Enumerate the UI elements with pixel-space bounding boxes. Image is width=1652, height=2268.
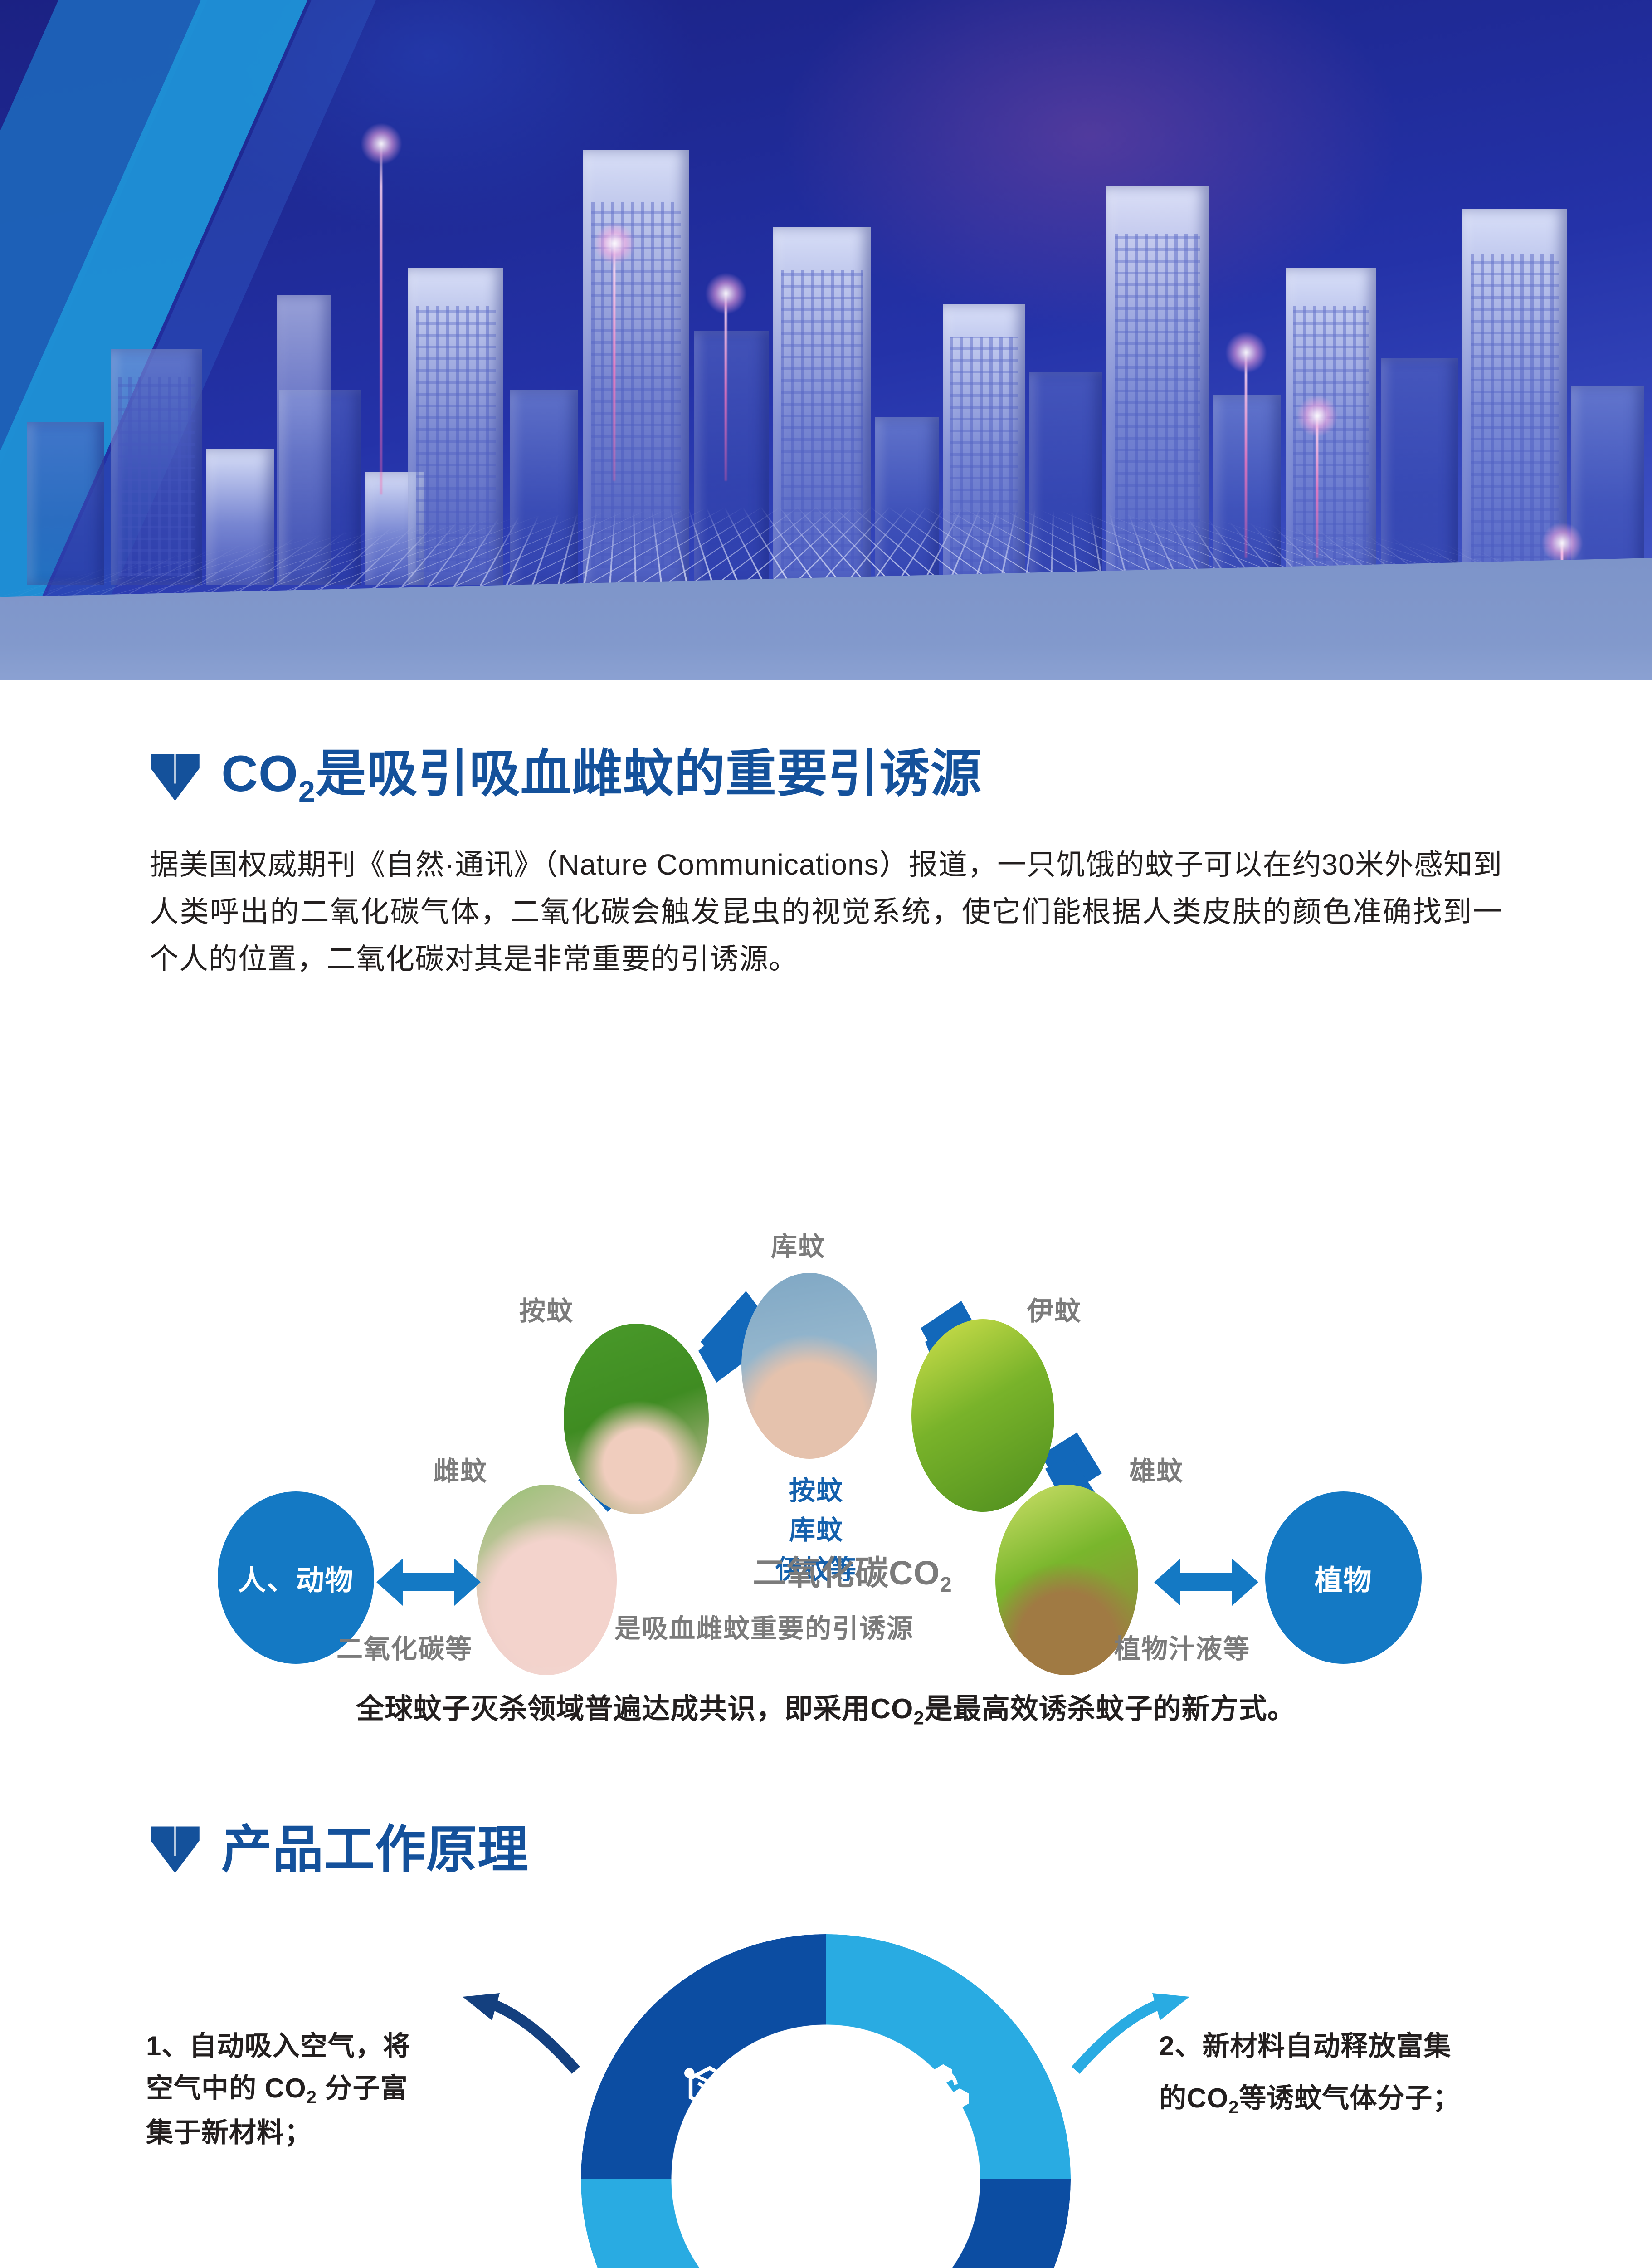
- title-co2-subscript: 2: [298, 774, 316, 808]
- consensus-subscript: 2: [913, 1707, 924, 1729]
- photo-culex: [741, 1273, 877, 1459]
- co2-label-text: 二氧化碳CO: [753, 1554, 940, 1592]
- section-heading-principle: 产品工作原理: [150, 1824, 1652, 1875]
- step-2-line-2b: 等诱蚊气体分子；: [1239, 2083, 1460, 2113]
- section-title-principle: 产品工作原理: [221, 1824, 529, 1875]
- consensus-text-a: 全球蚊子灭杀领域普遍达成共识，即采用CO: [356, 1693, 913, 1725]
- label-male: 雄蚊: [1129, 1450, 1184, 1488]
- step-1-line-2: 空气中的 CO2 分子富: [146, 2067, 463, 2112]
- co2-caption: 是吸血雌蚊重要的引诱源: [614, 1607, 914, 1645]
- photo-aedes: [911, 1319, 1054, 1512]
- step-1-line-2b: 分子富: [317, 2073, 408, 2103]
- center-line-anopheles: 按蚊: [744, 1471, 889, 1510]
- step-1-line-2a: 空气中的 CO: [146, 2073, 307, 2103]
- step-1-subscript: 2: [307, 2087, 317, 2107]
- chevron-down-icon: [150, 1825, 200, 1874]
- step-2-line-2: 的CO2等诱蚊气体分子；: [1159, 2077, 1522, 2121]
- center-line-culex: 库蚊: [744, 1510, 889, 1550]
- step-1-line-1: 1、自动吸入空气，将: [146, 2025, 463, 2067]
- section-heading-co2: CO2是吸引吸血雌蚊的重要引诱源: [150, 748, 1652, 806]
- co2-label-subscript: 2: [940, 1573, 952, 1596]
- step-1-line-3: 集于新材料；: [146, 2112, 463, 2154]
- step-2-line-1: 2、新材料自动释放富集: [1159, 2025, 1522, 2067]
- intro-paragraph: 据美国权威期刊《自然·通讯》（Nature Communications）报道，…: [150, 841, 1502, 982]
- step-2-line-2a: 的CO: [1159, 2083, 1228, 2113]
- label-anopheles: 按蚊: [519, 1290, 574, 1328]
- step-1-text: 1、自动吸入空气，将 空气中的 CO2 分子富 集于新材料；: [146, 2025, 463, 2154]
- label-female: 雌蚊: [433, 1450, 487, 1488]
- title-co2-prefix: CO: [221, 745, 298, 802]
- photo-anopheles: [564, 1324, 709, 1514]
- consensus-statement: 全球蚊子灭杀领域普遍达成共识，即采用CO2是最高效诱杀蚊子的新方式。: [0, 1686, 1652, 1729]
- mosquito-attraction-diagram: 按蚊 库蚊 伊蚊 雌蚊 雄蚊 人、动物 植物 二氧化碳等 植物汁液等 按蚊 库蚊…: [0, 1011, 1652, 1546]
- label-culex: 库蚊: [771, 1225, 825, 1263]
- working-principle-cycle: 1、自动吸入空气，将 空气中的 CO2 分子富 集于新材料； 2、新材料自动释放…: [0, 1916, 1652, 2268]
- chevron-down-icon: [150, 753, 200, 802]
- hero-banner: [0, 0, 1652, 680]
- step-2-subscript: 2: [1228, 2097, 1239, 2117]
- label-aedes: 伊蚊: [1027, 1290, 1082, 1328]
- consensus-text-b: 是最高效诱杀蚊子的新方式。: [925, 1693, 1296, 1725]
- page-title: CO2是吸引吸血雌蚊的重要引诱源: [221, 748, 982, 806]
- title-rest: 是吸引吸血雌蚊的重要引诱源: [316, 745, 982, 802]
- step-2-text: 2、新材料自动释放富集 的CO2等诱蚊气体分子；: [1159, 2025, 1522, 2121]
- co2-label: 二氧化碳CO2: [753, 1546, 952, 1597]
